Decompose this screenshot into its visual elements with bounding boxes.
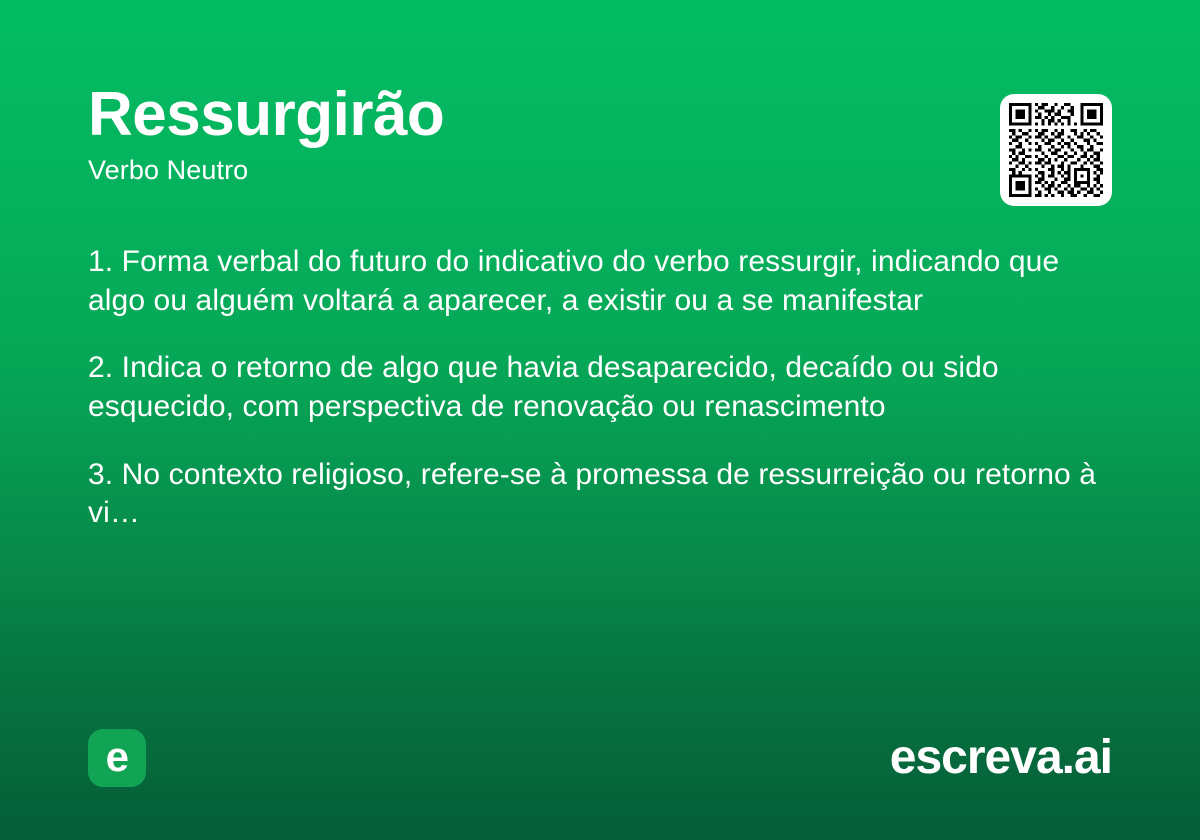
heading-group: Ressurgirão Verbo Neutro bbox=[88, 82, 444, 186]
brand-wordmark: escreva.ai bbox=[890, 734, 1112, 782]
definitions-list: 1. Forma verbal do futuro do indicativo … bbox=[88, 243, 1112, 533]
card-header: Ressurgirão Verbo Neutro bbox=[88, 82, 1112, 206]
definition-card: Ressurgirão Verbo Neutro bbox=[0, 0, 1200, 840]
definition-item: 2. Indica o retorno de algo que havia de… bbox=[88, 349, 1112, 426]
card-footer: e escreva.ai bbox=[88, 728, 1112, 788]
definition-item: 3. No contexto religioso, refere-se à pr… bbox=[88, 456, 1112, 533]
logo-letter: e bbox=[106, 736, 129, 778]
page-title: Ressurgirão bbox=[88, 82, 444, 147]
definition-item: 1. Forma verbal do futuro do indicativo … bbox=[88, 243, 1112, 320]
escreva-logo-icon: e bbox=[88, 729, 146, 787]
qr-code-icon[interactable] bbox=[1000, 94, 1112, 206]
word-class-subtitle: Verbo Neutro bbox=[88, 156, 444, 186]
